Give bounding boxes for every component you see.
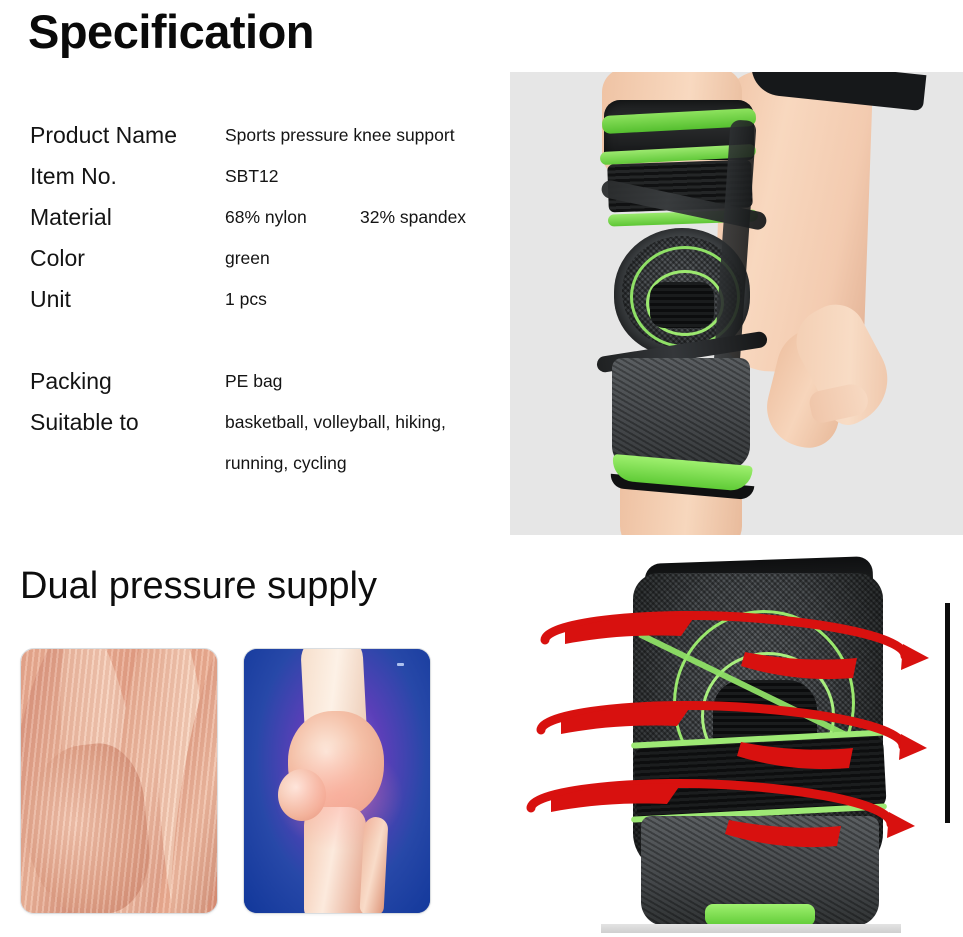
joint-pain-glow <box>274 741 404 851</box>
table-row: Material 68% nylon 32% spandex <box>30 204 500 245</box>
table-row: Product Name Sports pressure knee suppor… <box>30 122 500 163</box>
brace-lower-section <box>612 358 750 470</box>
page-title: Specification <box>28 4 314 59</box>
spec-label-material: Material <box>30 204 112 231</box>
compression-photo <box>505 540 963 937</box>
spec-label-item-no: Item No. <box>30 163 117 190</box>
spec-value-packing: PE bag <box>225 371 282 392</box>
spec-label-product-name: Product Name <box>30 122 177 149</box>
vertical-measure-bar <box>945 603 950 823</box>
specification-table: Product Name Sports pressure knee suppor… <box>30 122 500 450</box>
spec-value-unit: 1 pcs <box>225 289 267 310</box>
spec-label-unit: Unit <box>30 286 71 313</box>
spec-value-product-name: Sports pressure knee support <box>225 125 455 146</box>
spec-value-material-nylon: 68% nylon <box>225 207 307 228</box>
table-row: Item No. SBT12 <box>30 163 500 204</box>
spec-value-item-no: SBT12 <box>225 166 279 187</box>
spec-label-color: Color <box>30 245 85 272</box>
compression-arrow-middle <box>541 705 927 769</box>
table-row: Packing PE bag <box>30 368 500 409</box>
compression-arrow-bottom <box>531 783 915 847</box>
spec-value-suitable-to-line1: basketball, volleyball, hiking, <box>225 412 446 433</box>
compression-arrow-top <box>545 615 929 679</box>
highlight-dot <box>397 663 404 666</box>
table-row: Suitable to basketball, volleyball, hiki… <box>30 409 500 450</box>
spec-label-suitable-to: Suitable to <box>30 409 139 436</box>
table-row: Unit 1 pcs <box>30 286 500 327</box>
spec-value-material-spandex: 32% spandex <box>360 207 466 228</box>
knee-brace <box>596 100 756 500</box>
leg-muscle-anatomy-image <box>20 648 218 914</box>
spec-label-packing: Packing <box>30 368 112 395</box>
dual-pressure-panel: Dual pressure supply <box>0 540 505 937</box>
specification-panel: Specification Product Name Sports pressu… <box>0 0 505 540</box>
spec-value-suitable-to-line2: running, cycling <box>225 453 347 474</box>
knee-joint-anatomy-image <box>243 648 431 914</box>
brace-patella-core <box>650 282 714 328</box>
muscle-striation-overlay <box>21 649 217 913</box>
compression-arrows-group <box>505 540 963 937</box>
table-row: Color green <box>30 245 500 286</box>
product-photo <box>510 72 963 535</box>
section-title: Dual pressure supply <box>20 565 377 608</box>
spec-value-color: green <box>225 248 270 269</box>
